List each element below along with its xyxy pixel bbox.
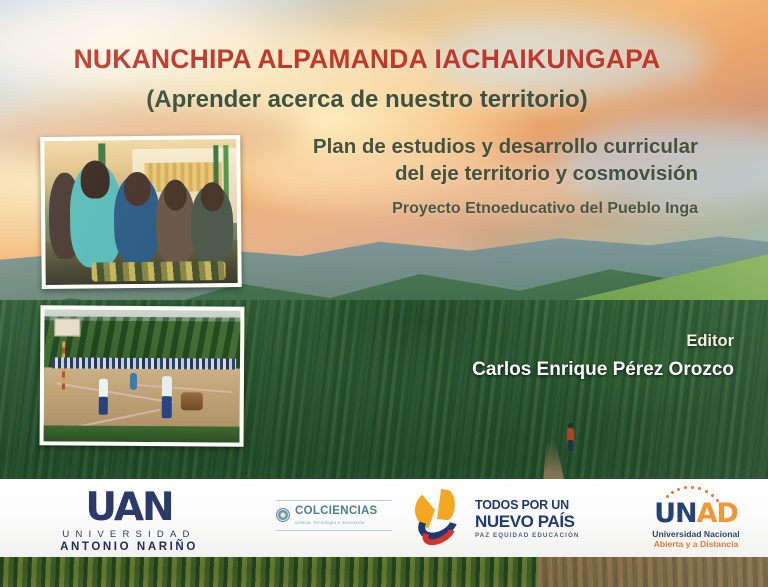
photo-person-head	[200, 182, 223, 211]
photo-food-on-table	[92, 262, 227, 282]
dirt-patch	[538, 556, 768, 587]
unad-line-universidad-nacional: Universidad Nacional	[640, 529, 752, 539]
colciencias-tagline: Ciencia, Tecnología e Innovación	[295, 520, 378, 525]
logo-todos-por-un-nuevo-pais: TODOS POR UN NUEVO PAÍS PAZ EQUIDAD EDUC…	[413, 490, 589, 548]
photo-community-meal-image	[44, 139, 237, 285]
unad-line-abierta-y-a-distancia: Abierta y a Distancia	[640, 539, 752, 549]
photo-student	[161, 376, 171, 398]
colciencias-seal-icon	[276, 508, 290, 522]
page-title: NUKANCHIPA ALPAMANDA IACHAIKUNGAPA	[0, 44, 734, 75]
photo-person-head	[123, 172, 150, 207]
uan-wordmark: UAN	[44, 489, 214, 526]
photo-school-yard-image	[44, 309, 241, 442]
logo-uan: UAN UNIVERSIDAD ANTONIO NARIÑO	[44, 489, 214, 553]
logo-unad: UNAD Universidad Nacional Abierta y a Di…	[640, 486, 752, 549]
colombia-flag-swoosh-icon	[413, 490, 469, 548]
photo-basketball-backboard	[54, 319, 80, 337]
photo-school-yard	[40, 305, 245, 446]
unad-mark-ad: AD	[697, 498, 738, 529]
unad-wordmark: UNAD	[640, 500, 752, 527]
photo-student-legs	[161, 396, 171, 418]
photo-drum	[181, 392, 203, 410]
colciencias-wordmark: COLCIENCIAS	[295, 506, 378, 518]
divider	[276, 530, 392, 531]
colciencias-row: COLCIENCIAS Ciencia, Tecnología e Innova…	[276, 506, 392, 525]
title-translation: (Aprender acerca de nuestro territorio)	[0, 86, 734, 114]
tppn-text: TODOS POR UN NUEVO PAÍS PAZ EQUIDAD EDUC…	[475, 499, 579, 539]
photo-crowd-of-students	[52, 357, 236, 370]
editor-name: Carlos Enrique Pérez Orozco	[472, 359, 734, 381]
photo-person-head	[81, 160, 110, 198]
book-cover: NUKANCHIPA ALPAMANDA IACHAIKUNGAPA (Apre…	[0, 0, 768, 587]
uan-line-universidad: UNIVERSIDAD	[44, 529, 214, 540]
photo-person-head	[164, 180, 187, 210]
unad-mark-un: UN	[654, 498, 697, 529]
photo-grass	[44, 425, 240, 442]
logo-colciencias: COLCIENCIAS Ciencia, Tecnología e Innova…	[276, 500, 392, 531]
photo-student-legs	[99, 397, 108, 415]
walking-person-legs	[568, 440, 573, 451]
tppn-line-2: NUEVO PAÍS	[475, 513, 579, 530]
editor-block: Editor Carlos Enrique Pérez Orozco	[472, 332, 734, 381]
tppn-line-3: PAZ EQUIDAD EDUCACIÓN	[475, 533, 579, 539]
photo-student	[99, 378, 108, 398]
photo-community-meal	[40, 135, 242, 289]
photo-student	[130, 373, 137, 390]
divider	[276, 500, 392, 501]
uan-line-antonio-narino: ANTONIO NARIÑO	[44, 541, 214, 553]
editor-label: Editor	[472, 332, 734, 351]
tppn-line-1: TODOS POR UN	[475, 499, 579, 512]
unad-arc-dots-icon	[640, 486, 752, 500]
